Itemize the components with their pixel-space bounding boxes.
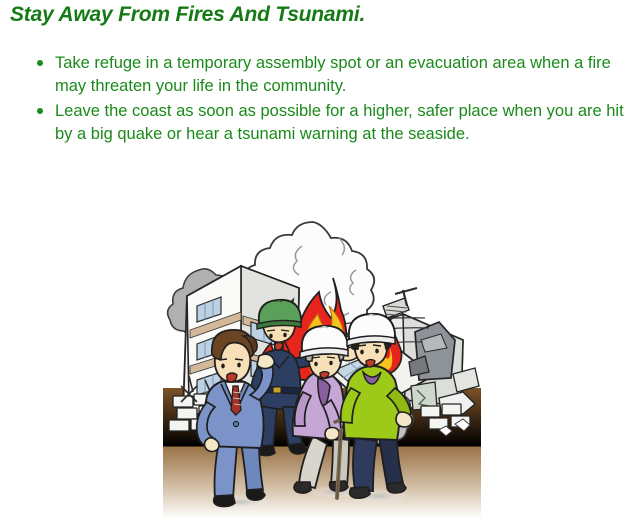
list-item: Leave the coast as soon as possible for … — [33, 100, 633, 145]
list-item: Take refuge in a temporary assembly spot… — [33, 52, 633, 97]
bullet-dot-icon — [37, 60, 43, 66]
page-root: Stay Away From Fires And Tsunami. Take r… — [0, 0, 644, 520]
earthquake-fire-evacuation-illustration — [163, 210, 481, 518]
list-item-text: Leave the coast as soon as possible for … — [55, 102, 624, 143]
page-title: Stay Away From Fires And Tsunami. — [10, 3, 365, 27]
list-item-text: Take refuge in a temporary assembly spot… — [55, 54, 611, 95]
advice-bullet-list: Take refuge in a temporary assembly spot… — [33, 52, 633, 148]
bullet-dot-icon — [37, 108, 43, 114]
